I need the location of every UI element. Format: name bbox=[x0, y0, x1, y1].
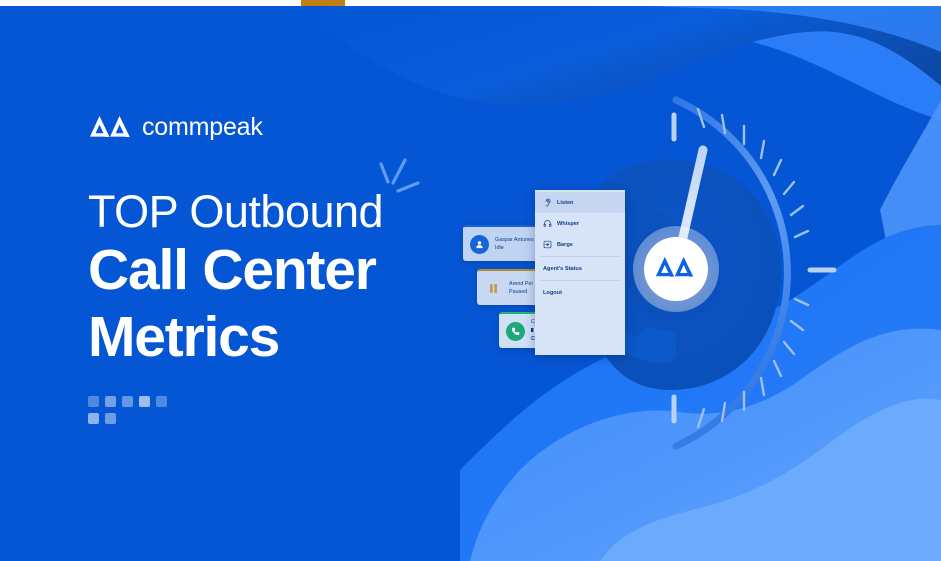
headset-icon bbox=[543, 219, 552, 228]
menu-item-agents-status[interactable]: Agent's Status bbox=[535, 258, 625, 279]
dot-grid-cell bbox=[105, 396, 116, 407]
ear-listen-icon bbox=[543, 198, 552, 207]
menu-item-label: Agent's Status bbox=[543, 266, 582, 272]
menu-item-label: Logout bbox=[543, 290, 562, 296]
page-title: TOP Outbound Call Center Metrics bbox=[88, 188, 468, 372]
menu-item-listen[interactable]: Listen bbox=[535, 192, 625, 213]
dot-grid-cell bbox=[105, 413, 116, 424]
dot-grid-cell bbox=[122, 396, 133, 407]
dot-grid-row bbox=[88, 413, 167, 424]
hero-content: commpeak TOP Outbound Call Center Metric… bbox=[88, 110, 468, 372]
menu-item-label: Barge bbox=[557, 242, 573, 248]
barge-arrow-icon bbox=[543, 240, 552, 249]
dot-grid-cell bbox=[139, 396, 150, 407]
sunburst-decoration bbox=[372, 158, 424, 213]
speedometer-gauge bbox=[618, 88, 918, 458]
headline-line-2: Call Center bbox=[88, 237, 468, 305]
square-dot-grid bbox=[88, 396, 167, 430]
menu-divider bbox=[541, 280, 619, 281]
agent-actions-menu[interactable]: Listen Whisper Barge Agent's Sta bbox=[535, 190, 625, 355]
phone-handset-icon bbox=[506, 322, 525, 341]
pause-icon bbox=[484, 279, 503, 298]
agent-avatar-icon bbox=[470, 235, 489, 254]
brand-wordmark: commpeak bbox=[142, 115, 263, 140]
call-center-dashboard-mock: Gaspar Antunes Idle Arend Pel Paused bbox=[455, 190, 655, 360]
menu-item-whisper[interactable]: Whisper bbox=[535, 213, 625, 234]
banner-canvas: commpeak TOP Outbound Call Center Metric… bbox=[0, 0, 941, 561]
dot-grid-row bbox=[88, 396, 167, 407]
menu-item-barge[interactable]: Barge bbox=[535, 234, 625, 255]
dot-grid-cell bbox=[88, 413, 99, 424]
menu-item-label: Whisper bbox=[557, 221, 579, 227]
dot-grid-cell bbox=[156, 396, 167, 407]
commpeak-mark-icon bbox=[88, 114, 132, 140]
dot-grid-cell bbox=[88, 396, 99, 407]
menu-item-logout[interactable]: Logout bbox=[535, 282, 625, 303]
headline-line-3: Metrics bbox=[88, 304, 468, 372]
menu-divider bbox=[541, 256, 619, 257]
menu-item-label: Listen bbox=[557, 200, 573, 206]
brand-logo[interactable]: commpeak bbox=[88, 110, 468, 144]
